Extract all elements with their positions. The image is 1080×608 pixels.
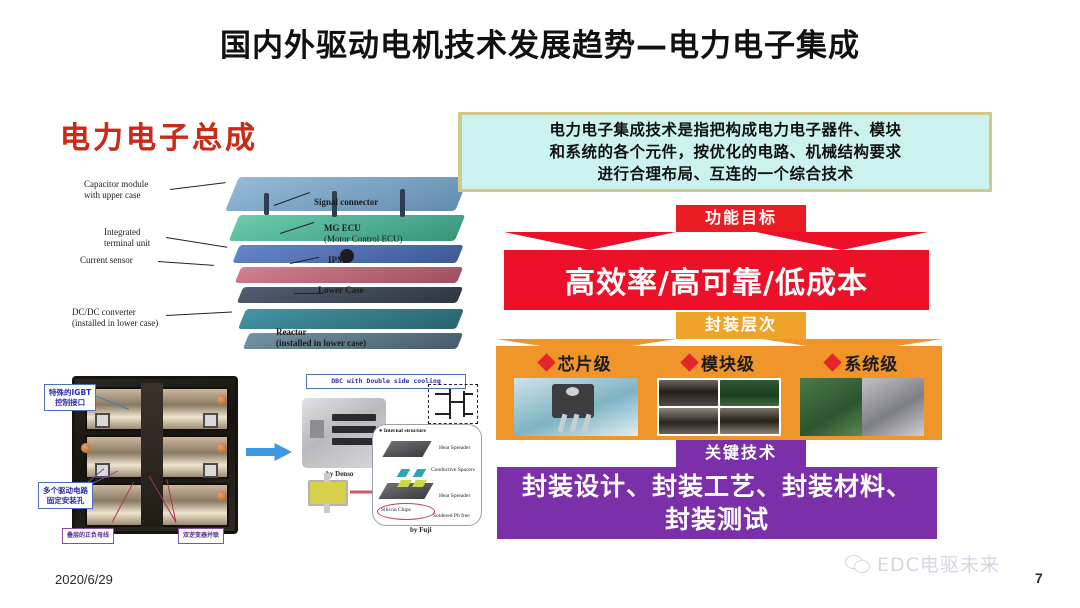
label-conductive-spacers: Conductive Spacers [431,467,475,473]
bullet-diamond-icon [824,353,842,371]
key-tech-band: 封装设计、封装工艺、封装材料、 封装测试 [497,467,937,539]
label-soldered-pb-free: Soldered Pb free [433,513,470,519]
label-integrated-terminal-unit: Integrated terminal unit [104,227,150,249]
definition-line-1: 电力电子集成技术是指把构成电力电子器件、模块 [549,121,901,139]
label-mg-ecu: MG ECU (Motor Control ECU) [324,223,403,245]
callout-dual-inverter-parallel: 双逆变器并联 [178,528,224,544]
package-level-tab: 封装层次 [676,312,806,339]
label-heat-spreader-bottom: Heat Spreader [439,493,470,499]
funnel-red [504,232,676,250]
terminal-lug [81,443,91,453]
definition-textbox: 电力电子集成技术是指把构成电力电子器件、模块 和系统的各个元件，按优化的电路、机… [458,112,992,192]
page-number: 7 [1035,570,1043,586]
wechat-icon [845,555,871,573]
label-reactor: Reactor (installed in lower case) [276,327,366,349]
conductive-spacer-shape [413,469,427,477]
label-capacitor-module: Capacitor module with upper case [84,179,148,201]
watermark: EDC电驱未来 [845,550,1000,577]
watermark-text: EDC电驱未来 [877,550,1000,577]
bullet-diamond-icon [537,353,555,371]
label-silicon-chips: Silicon Chips [381,507,411,513]
chip-level-image [514,378,638,436]
label-signal-connector: Signal connector [314,197,378,208]
power-module-body [72,376,238,534]
slide-date: 2020/6/29 [55,572,113,587]
key-tech-tab: 关键技术 [676,440,806,467]
terminal-lug [217,491,227,501]
assembly-pin [264,193,269,215]
internal-structure-box: ● Internal structure Heat Spreader Condu… [372,424,482,526]
label-current-sensor: Current sensor [80,255,133,266]
heat-spreader-top-shape [382,441,431,457]
internal-structure-label: ● Internal structure [379,428,426,434]
layer-lower-case [238,309,464,329]
package-level-label: 系统级 [844,350,898,375]
layer-power-stage [235,267,463,283]
key-tech-line-2: 封装测试 [522,503,912,536]
definition-line-2: 和系统的各个元件，按优化的电路、机械结构要求 [549,143,901,161]
system-level-image [800,378,924,436]
callout-laminated-busbar: 叠层的正负母线 [62,528,114,544]
page-title: 国内外驱动电机技术发展趋势—电力电子集成 [0,20,1080,65]
package-levels-band: 芯片级 模块级 [496,346,942,440]
assembly-pin [400,189,405,217]
key-tech-line-1: 封装设计、封装工艺、封装材料、 [522,470,912,503]
conductive-spacer-shape [397,469,411,477]
label-ipm: IPM [328,255,346,266]
package-level-chip: 芯片级 [504,346,647,440]
package-level-label: 模块级 [701,350,755,375]
credit-denso: by Denso [326,470,353,478]
laminated-busbar [141,383,163,527]
cross-section-schematic [428,384,478,424]
credit-fuji: by Fuji [410,526,432,534]
terminal-lug [217,443,227,453]
funnel-red [756,232,928,250]
function-goal-tab: 功能目标 [676,205,806,232]
terminal-lug [217,395,227,405]
left-section-heading: 电力电子总成 [60,113,258,157]
definition-line-3: 进行合理布局、互连的一个综合技术 [597,165,853,183]
bullet-diamond-icon [680,353,698,371]
package-level-module: 模块级 [647,346,790,440]
leader-line [158,261,214,266]
module-level-image [657,378,781,436]
dbc-cooling-panel: DBC with Double side cooling by Denso ● … [300,370,482,540]
label-dcdc-converter: DC/DC converter (installed in lower case… [72,307,158,329]
package-level-system: 系统级 [791,346,934,440]
function-goal-value: 高效率/高可靠/低成本 [504,250,929,310]
package-level-label: 芯片级 [558,350,612,375]
callout-igbt-control-interface: 特殊的IGBT 控制接口 [44,384,96,411]
chip-icon [308,480,348,506]
mounting-hole [203,413,218,428]
label-lower-case: Lower Case [318,285,364,296]
exploded-assembly-diagram: Capacitor module with upper case Integra… [62,175,482,370]
mounting-hole [203,463,218,478]
label-heat-spreader-top: Heat Spreader [439,445,470,451]
callout-driver-mounting-holes: 多个驱动电路 固定安装孔 [38,482,93,509]
mounting-hole [95,413,110,428]
slide-canvas: 国内外驱动电机技术发展趋势—电力电子集成 电力电子总成 Capacitor mo… [0,0,1080,608]
